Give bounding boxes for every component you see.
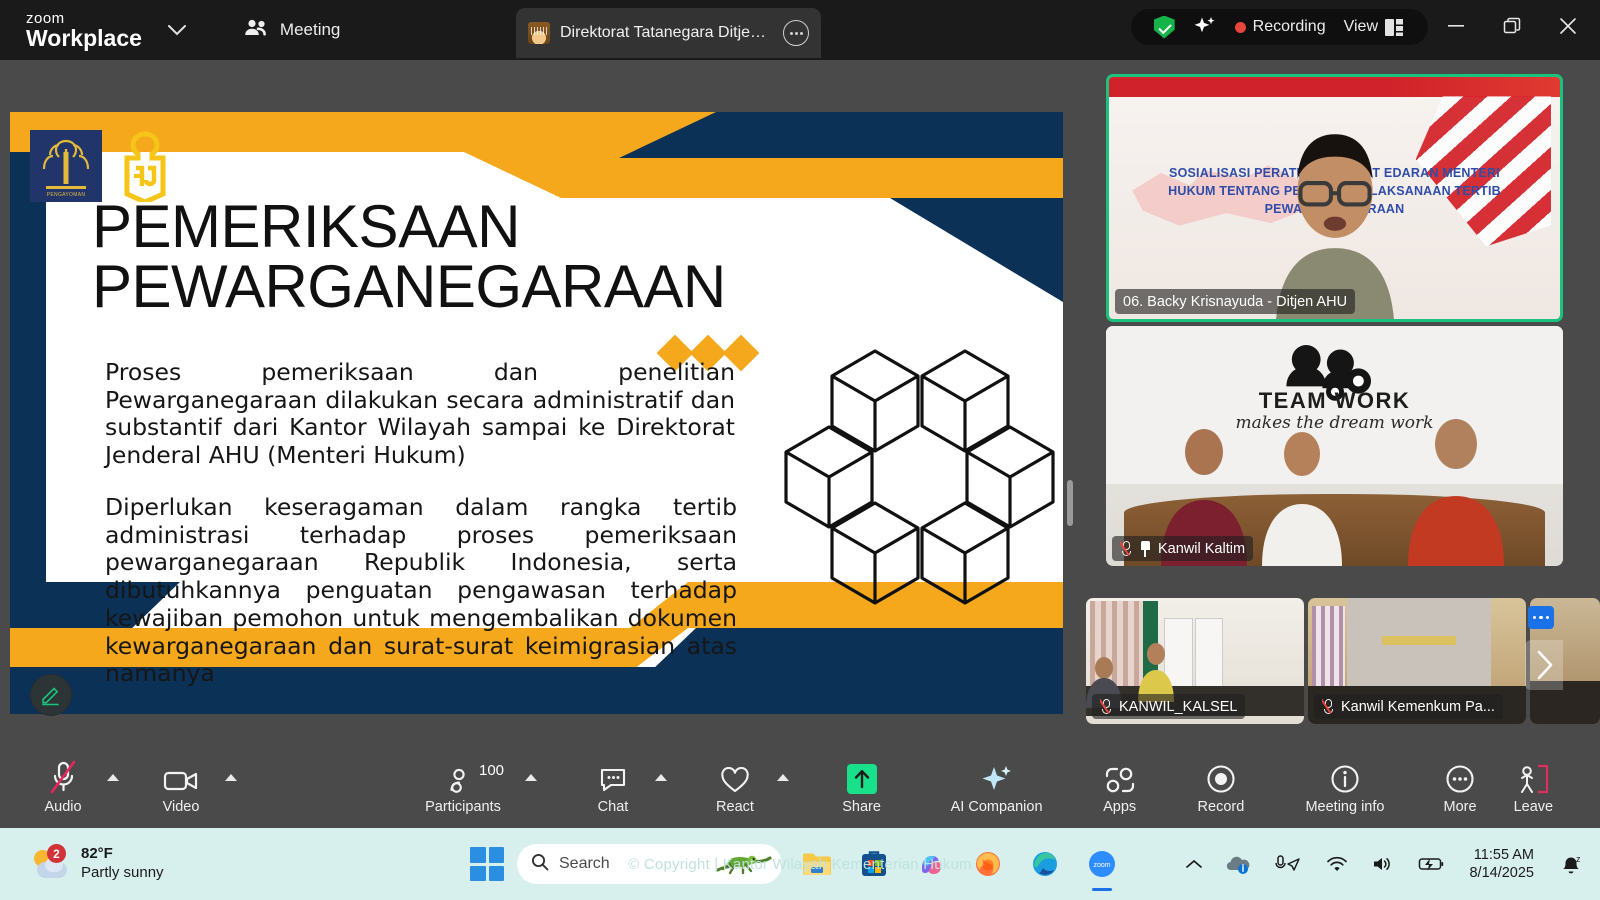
toolbar-button-video[interactable]: Video (144, 746, 218, 822)
notification-badge: 2 (47, 844, 66, 863)
slide-logos: PENGAYOMAN (30, 130, 178, 202)
toolbar-button-chat[interactable]: Chat (578, 746, 648, 822)
gallery-more-options-icon[interactable] (1528, 606, 1554, 629)
tab-more-icon[interactable] (783, 20, 809, 46)
annotation-pencil-button[interactable] (30, 674, 72, 716)
taskbar-app-firefox[interactable] (966, 842, 1010, 886)
participant-name: Kanwil Kaltim (1158, 541, 1245, 557)
heart-icon (720, 754, 750, 794)
leave-meeting-icon (1516, 754, 1550, 794)
titlebar-status-group: Recording View (1131, 9, 1428, 45)
taskbar-system-tray: 11:55 AM 8/14/2025 z (1181, 828, 1588, 900)
taskbar-app-copilot[interactable] (909, 842, 953, 886)
mic-muted-icon (1120, 540, 1133, 557)
pencil-icon (40, 684, 62, 706)
window-restore-button[interactable] (1484, 0, 1540, 52)
tile3-nameplate: KANWIL_KALSEL (1092, 694, 1245, 719)
participant-tile-kanwil-kaltim[interactable]: TEAM WORK makes the dream work Kanwil Ka… (1106, 326, 1563, 566)
start-button-icon[interactable] (470, 847, 504, 881)
shield-check-icon (1154, 16, 1175, 39)
windows-taskbar: 2 82°F Partly sunny Search (0, 828, 1600, 900)
toolbar-button-record[interactable]: Record (1181, 746, 1260, 822)
react-options-chevron-icon[interactable] (770, 748, 796, 806)
tab-favicon (528, 22, 550, 44)
tray-volume-icon[interactable] (1367, 850, 1399, 878)
recording-indicator[interactable]: Recording (1226, 12, 1335, 42)
toolbar-label-record: Record (1198, 799, 1245, 815)
chat-options-chevron-icon[interactable] (648, 748, 674, 806)
tray-microphone-location-icon[interactable] (1269, 849, 1307, 879)
search-placeholder: Search (559, 855, 610, 873)
toolbar-label-share: Share (842, 799, 881, 815)
taskbar-app-microsoft-store[interactable] (852, 842, 896, 886)
toolbar-button-participants[interactable]: 100 Participants (408, 746, 518, 822)
participant-name: 06. Backy Krisnayuda - Ditjen AHU (1123, 294, 1347, 310)
tile2-nameplate: Kanwil Kaltim (1112, 536, 1253, 561)
encryption-shield-icon[interactable] (1145, 12, 1184, 42)
brand-workplace: Workplace (26, 27, 142, 50)
brand-zoom: zoom (26, 11, 142, 26)
panel-splitter-handle[interactable] (1067, 480, 1073, 526)
toolbar-button-meeting-info[interactable]: Meeting info (1287, 746, 1404, 822)
presentation-slide[interactable]: PENGAYOMAN PEMERIKSAAN PEWARGANEGARAAN P… (10, 112, 1063, 714)
tray-notifications-dnd-icon[interactable]: z (1554, 848, 1588, 880)
view-switcher[interactable]: View (1335, 12, 1414, 42)
toolbar-label-more: More (1444, 799, 1477, 815)
taskbar-center-group: Search (470, 828, 1124, 900)
view-label: View (1344, 18, 1378, 36)
toolbar-label-participants: Participants (425, 799, 501, 815)
title-bar: zoom Workplace Meeting Direktorat Tatane… (0, 0, 1600, 60)
search-decorative-lizard-icon (714, 848, 776, 880)
toolbar-button-apps[interactable]: Apps (1084, 746, 1155, 822)
weather-description: Partly sunny (81, 864, 164, 883)
slide-title: PEMERIKSAAN PEWARGANEGARAAN (92, 197, 852, 317)
hexagon-cube-graphic (762, 337, 1063, 627)
participants-group-icon (244, 18, 269, 43)
slide-paragraph-1: Proses pemeriksaan dan penelitian Pewarg… (105, 359, 735, 470)
more-dots-icon (1445, 754, 1475, 794)
pin-icon (1139, 541, 1152, 557)
nav-item-meeting[interactable]: Meeting (232, 11, 352, 50)
taskbar-app-zoom[interactable]: zoom (1080, 842, 1124, 886)
tray-battery-charging-icon[interactable] (1413, 851, 1449, 877)
participant-tile-kanwil-kalsel[interactable]: KANWIL_KALSEL (1086, 598, 1304, 724)
participant-tile-kanwil-kemenkum[interactable]: Kanwil Kemenkum Pa... (1308, 598, 1526, 724)
toolbar-label-meeting-info: Meeting info (1305, 799, 1384, 815)
toolbar-label-ai-companion: AI Companion (951, 799, 1043, 815)
svg-text:z: z (1576, 854, 1581, 864)
meeting-tab[interactable]: Direktorat Tatanegara Ditjen AHU (516, 8, 821, 58)
slide-paragraph-2: Diperlukan keseragaman dalam rangka tert… (105, 494, 737, 688)
toolbar-label-leave: Leave (1514, 799, 1554, 815)
gallery-next-page-icon[interactable] (1525, 640, 1563, 690)
window-close-button[interactable] (1540, 0, 1596, 52)
kementerian-hukum-logo: PENGAYOMAN (30, 130, 102, 202)
tile1-nameplate: 06. Backy Krisnayuda - Ditjen AHU (1115, 289, 1355, 314)
recording-label: Recording (1253, 18, 1326, 36)
toolbar-button-react[interactable]: React (700, 746, 770, 822)
chat-bubble-icon (598, 754, 628, 794)
video-options-chevron-icon[interactable] (218, 748, 244, 806)
zoom-workplace-logo: zoom Workplace (26, 11, 142, 50)
participants-icon: 100 (448, 754, 478, 794)
search-icon (531, 853, 549, 876)
tile2-people (1106, 326, 1563, 566)
taskbar-app-file-explorer[interactable] (795, 842, 839, 886)
meeting-toolbar: Audio Video 100 P (0, 740, 1600, 828)
mic-muted-icon (1322, 698, 1335, 715)
ahu-logo-icon (112, 130, 178, 202)
record-dot-icon (1235, 22, 1246, 33)
participant-name: KANWIL_KALSEL (1119, 699, 1237, 715)
tray-expand-chevron-icon[interactable] (1181, 854, 1207, 874)
toolbar-label-chat: Chat (598, 799, 629, 815)
logo-base (46, 186, 86, 189)
tile4-nameplate: Kanwil Kemenkum Pa... (1314, 694, 1503, 719)
taskbar-app-microsoft-edge[interactable] (1023, 842, 1067, 886)
record-icon (1206, 754, 1236, 794)
toolbar-button-audio[interactable]: Audio (26, 746, 100, 822)
shared-screen-stage: PENGAYOMAN PEMERIKSAAN PEWARGANEGARAAN P… (0, 60, 1083, 740)
clock-date: 8/14/2025 (1469, 864, 1534, 882)
taskbar-clock[interactable]: 11:55 AM 8/14/2025 (1463, 842, 1540, 886)
clock-time: 11:55 AM (1469, 846, 1534, 864)
share-screen-icon (847, 754, 877, 794)
partly-sunny-icon: 2 (33, 848, 71, 880)
taskbar-weather-widget[interactable]: 2 82°F Partly sunny (25, 840, 172, 888)
ai-companion-sparkle-icon[interactable] (1184, 12, 1226, 42)
toolbar-button-leave[interactable]: Leave (1497, 746, 1570, 822)
audio-options-chevron-icon[interactable] (100, 748, 126, 806)
info-icon (1330, 754, 1360, 794)
weather-text: 82°F Partly sunny (81, 845, 164, 883)
apps-icon (1104, 754, 1136, 794)
toolbar-button-ai-companion[interactable]: AI Companion (933, 746, 1060, 822)
participants-count: 100 (479, 762, 504, 779)
taskbar-search-input[interactable]: Search (517, 844, 782, 884)
toolbar-button-share[interactable]: Share (820, 746, 903, 822)
tray-wifi-icon[interactable] (1321, 850, 1353, 878)
toolbar-label-react: React (716, 799, 754, 815)
toolbar-button-more[interactable]: More (1423, 746, 1496, 822)
participant-name: Kanwil Kemenkum Pa... (1341, 699, 1495, 715)
logo-pillar (64, 152, 69, 184)
ai-sparkle-icon (981, 754, 1013, 794)
svg-text:zoom: zoom (1093, 862, 1110, 869)
participant-video-panel: SOSIALISASI PERATURAN SURAT EDARAN MENTE… (1083, 60, 1600, 740)
toolbar-label-apps: Apps (1103, 799, 1136, 815)
window-minimize-button[interactable] (1428, 0, 1484, 52)
tab-title: Direktorat Tatanegara Ditjen AHU (560, 24, 773, 42)
workspace-chevron-down-icon[interactable] (160, 13, 194, 47)
tile1-red-banner (1109, 77, 1560, 97)
mic-muted-icon (1100, 698, 1113, 715)
participant-tile-speaker[interactable]: SOSIALISASI PERATURAN SURAT EDARAN MENTE… (1106, 74, 1563, 322)
tile4-curtain (1312, 606, 1345, 687)
participants-options-chevron-icon[interactable] (518, 748, 544, 806)
weather-temperature: 82°F (81, 845, 164, 864)
toolbar-label-video: Video (163, 799, 200, 815)
nav-item-meeting-label: Meeting (280, 20, 340, 40)
microphone-muted-icon (48, 754, 78, 794)
tile4-gold-sign (1382, 636, 1456, 645)
layout-view-icon (1385, 19, 1405, 36)
video-camera-icon (163, 754, 199, 794)
tray-onedrive-icon[interactable] (1221, 849, 1255, 879)
toolbar-label-audio: Audio (44, 799, 81, 815)
